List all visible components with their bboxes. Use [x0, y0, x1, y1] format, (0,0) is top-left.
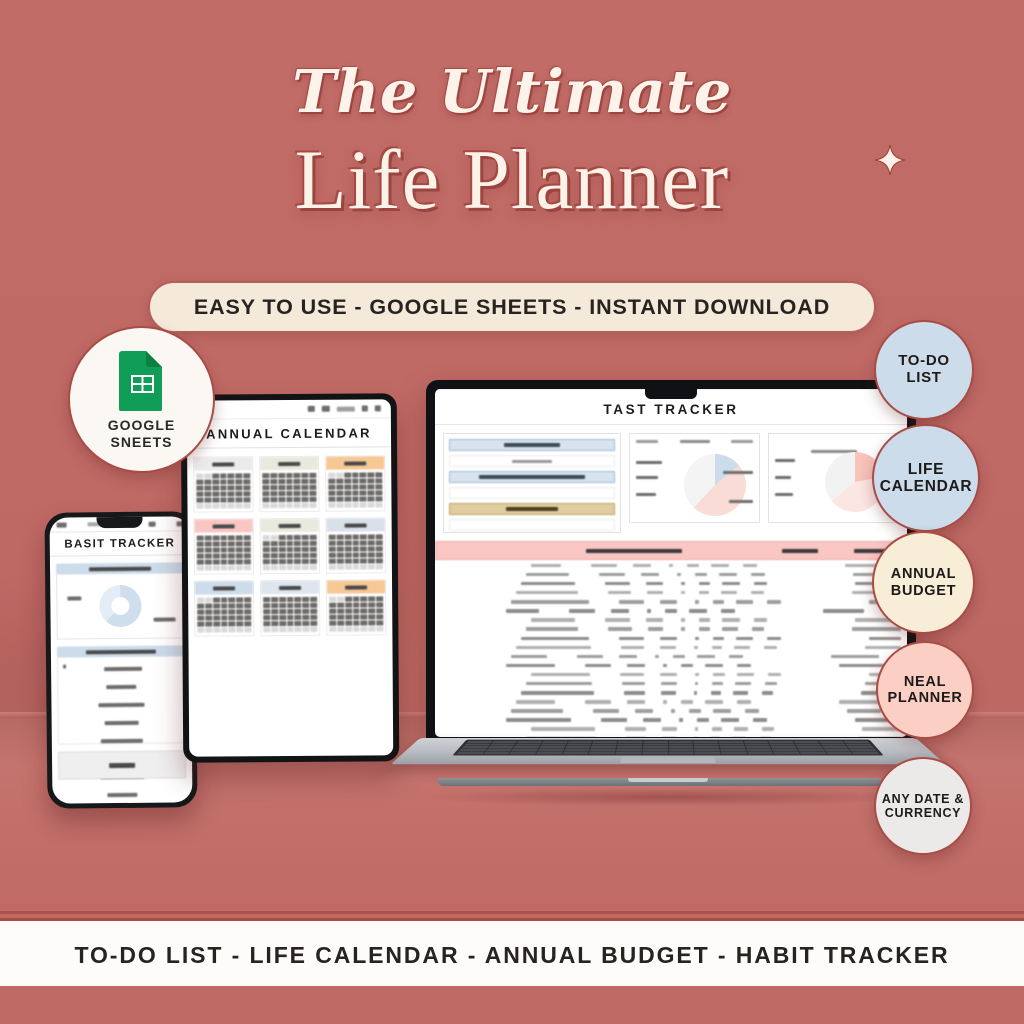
calendar-day-cell[interactable] — [196, 474, 203, 479]
calendar-day-cell[interactable] — [344, 473, 351, 478]
calendar-day-cell[interactable] — [310, 547, 317, 552]
calendar-day-cell[interactable] — [329, 621, 336, 626]
calendar-day-cell[interactable] — [310, 541, 317, 546]
calendar-day-cell[interactable] — [236, 553, 243, 558]
calendar-day-cell[interactable] — [236, 541, 243, 546]
calendar-day-cell[interactable] — [310, 597, 317, 602]
badge-neal-planner[interactable]: NEAL PLANNER — [876, 641, 974, 739]
calendar-day-cell[interactable] — [352, 503, 359, 508]
calendar-day-cell[interactable] — [228, 473, 235, 478]
calendar-day-cell[interactable] — [286, 473, 293, 478]
calendar-day-cell[interactable] — [212, 541, 219, 546]
calendar-day-cell[interactable] — [336, 485, 343, 490]
calendar-day-cell[interactable] — [228, 559, 235, 564]
calendar-day-cell[interactable] — [344, 541, 351, 546]
calendar-day-cell[interactable] — [310, 621, 317, 626]
calendar-day-cell[interactable] — [204, 480, 211, 485]
table-row[interactable] — [441, 653, 901, 660]
share-icon[interactable] — [337, 406, 355, 411]
calendar-day-cell[interactable] — [236, 559, 243, 564]
calendar-day-cell[interactable] — [294, 541, 301, 546]
calendar-day-cell[interactable] — [345, 553, 352, 558]
calendar-day-cell[interactable] — [302, 485, 309, 490]
calendar-day-cell[interactable] — [360, 472, 367, 477]
calendar-day-cell[interactable] — [263, 597, 270, 602]
calendar-day-cell[interactable] — [212, 491, 219, 496]
calendar-day-cell[interactable] — [303, 627, 310, 632]
calendar-day-cell[interactable] — [337, 559, 344, 564]
calendar-day-cell[interactable] — [352, 559, 359, 564]
table-row[interactable] — [441, 735, 901, 737]
calendar-day-cell[interactable] — [220, 497, 227, 502]
calendar-day-cell[interactable] — [220, 485, 227, 490]
calendar-day-cell[interactable] — [360, 490, 367, 495]
calendar-day-cell[interactable] — [212, 485, 219, 490]
calendar-day-cell[interactable] — [286, 491, 293, 496]
calendar-day-cell[interactable] — [310, 503, 317, 508]
calendar-day-cell[interactable] — [236, 535, 243, 540]
calendar-day-cell[interactable] — [279, 615, 286, 620]
table-row[interactable] — [441, 626, 901, 633]
calendar-day-cell[interactable] — [236, 473, 243, 478]
calendar-day-cell[interactable] — [205, 560, 212, 565]
calendar-day-cell[interactable] — [376, 540, 383, 545]
calendar-day-cell[interactable] — [220, 479, 227, 484]
calendar-day-cell[interactable] — [310, 603, 317, 608]
calendar-day-cell[interactable] — [345, 609, 352, 614]
calendar-day-cell[interactable] — [278, 547, 285, 552]
calendar-day-cell[interactable] — [213, 553, 220, 558]
calendar-day-cell[interactable] — [302, 479, 309, 484]
calendar-day-cell[interactable] — [352, 485, 359, 490]
calendar-day-cell[interactable] — [352, 541, 359, 546]
calendar-day-cell[interactable] — [337, 565, 344, 570]
calendar-day-cell[interactable] — [310, 609, 317, 614]
calendar-day-cell[interactable] — [271, 535, 278, 540]
calendar-day-cell[interactable] — [196, 498, 203, 503]
calendar-day-cell[interactable] — [205, 598, 212, 603]
calendar-day-cell[interactable] — [287, 621, 294, 626]
calendar-day-cell[interactable] — [244, 565, 251, 570]
calendar-day-cell[interactable] — [278, 541, 285, 546]
calendar-day-cell[interactable] — [236, 603, 243, 608]
calendar-day-cell[interactable] — [345, 565, 352, 570]
calendar-day-cell[interactable] — [263, 621, 270, 626]
calendar-day-cell[interactable] — [294, 553, 301, 558]
calendar-day-cell[interactable] — [263, 609, 270, 614]
calendar-day-cell[interactable] — [271, 559, 278, 564]
calendar-day-cell[interactable] — [329, 615, 336, 620]
calendar-day-cell[interactable] — [271, 547, 278, 552]
calendar-day-cell[interactable] — [212, 473, 219, 478]
calendar-day-cell[interactable] — [368, 490, 375, 495]
calendar-day-cell[interactable] — [229, 609, 236, 614]
calendar-day-cell[interactable] — [279, 609, 286, 614]
calendar-day-cell[interactable] — [236, 565, 243, 570]
calendar-day-cell[interactable] — [263, 553, 270, 558]
calendar-day-cell[interactable] — [328, 503, 335, 508]
calendar-day-cell[interactable] — [244, 559, 251, 564]
calendar-day-cell[interactable] — [375, 478, 382, 483]
calendar-day-cell[interactable] — [212, 503, 219, 508]
calendar-day-cell[interactable] — [352, 473, 359, 478]
calendar-day-cell[interactable] — [295, 603, 302, 608]
calendar-day-cell[interactable] — [244, 621, 251, 626]
calendar-day-cell[interactable] — [197, 560, 204, 565]
keyboard-key[interactable] — [695, 752, 721, 754]
calendar-day-cell[interactable] — [310, 627, 317, 632]
calendar-day-cell[interactable] — [244, 615, 251, 620]
calendar-day-cell[interactable] — [279, 553, 286, 558]
calendar-day-cell[interactable] — [302, 491, 309, 496]
phone-footer-button[interactable] — [58, 750, 186, 779]
calendar-day-cell[interactable] — [228, 503, 235, 508]
calendar-day-cell[interactable] — [213, 615, 220, 620]
calendar-day-cell[interactable] — [197, 542, 204, 547]
calendar-day-cell[interactable] — [360, 478, 367, 483]
calendar-day-cell[interactable] — [205, 548, 212, 553]
keyboard-key[interactable] — [616, 752, 642, 754]
calendar-day-cell[interactable] — [337, 609, 344, 614]
calendar-day-cell[interactable] — [360, 502, 367, 507]
keyboard-key[interactable] — [850, 749, 877, 751]
calendar-day-cell[interactable] — [368, 540, 375, 545]
calendar-day-cell[interactable] — [197, 604, 204, 609]
calendar-day-cell[interactable] — [376, 496, 383, 501]
calendar-day-cell[interactable] — [221, 621, 228, 626]
calendar-day-cell[interactable] — [328, 479, 335, 484]
calendar-day-cell[interactable] — [352, 491, 359, 496]
calendar-day-cell[interactable] — [212, 479, 219, 484]
calendar-day-cell[interactable] — [294, 503, 301, 508]
calendar-day-cell[interactable] — [244, 597, 251, 602]
table-row[interactable] — [441, 708, 901, 715]
calendar-day-cell[interactable] — [353, 627, 360, 632]
calendar-day-cell[interactable] — [353, 609, 360, 614]
calendar-day-cell[interactable] — [368, 546, 375, 551]
calendar-day-cell[interactable] — [302, 609, 309, 614]
calendar-day-cell[interactable] — [286, 535, 293, 540]
calendar-day-cell[interactable] — [337, 547, 344, 552]
calendar-day-cell[interactable] — [287, 615, 294, 620]
calendar-day-cell[interactable] — [376, 558, 383, 563]
calendar-day-cell[interactable] — [271, 553, 278, 558]
keyboard-key[interactable] — [852, 752, 879, 754]
keyboard-key[interactable] — [844, 741, 870, 743]
calendar-day-cell[interactable] — [244, 603, 251, 608]
calendar-day-cell[interactable] — [196, 504, 203, 509]
calendar-day-cell[interactable] — [271, 615, 278, 620]
calendar-day-cell[interactable] — [294, 565, 301, 570]
calendar-day-cell[interactable] — [344, 479, 351, 484]
calendar-day-cell[interactable] — [236, 491, 243, 496]
window-icon[interactable] — [375, 405, 381, 411]
calendar-day-cell[interactable] — [360, 552, 367, 557]
calendar-day-cell[interactable] — [220, 473, 227, 478]
calendar-day-cell[interactable] — [263, 559, 270, 564]
calendar-day-cell[interactable] — [310, 565, 317, 570]
calendar-day-cell[interactable] — [197, 628, 204, 633]
calendar-day-cell[interactable] — [286, 559, 293, 564]
calendar-day-cell[interactable] — [196, 492, 203, 497]
calendar-day-cell[interactable] — [352, 479, 359, 484]
keyboard-key[interactable] — [846, 743, 872, 745]
calendar-day-cell[interactable] — [294, 559, 301, 564]
calendar-day-cell[interactable] — [302, 603, 309, 608]
calendar-day-cell[interactable] — [360, 564, 367, 569]
calendar-day-cell[interactable] — [270, 491, 277, 496]
calendar-day-cell[interactable] — [376, 608, 383, 613]
calendar-day-cell[interactable] — [337, 615, 344, 620]
keyboard-key[interactable] — [589, 752, 615, 754]
keyboard-key[interactable] — [457, 752, 484, 754]
calendar-day-cell[interactable] — [361, 614, 368, 619]
calendar-day-cell[interactable] — [337, 597, 344, 602]
calendar-day-cell[interactable] — [229, 621, 236, 626]
calendar-day-cell[interactable] — [294, 479, 301, 484]
calendar-day-cell[interactable] — [337, 627, 344, 632]
calendar-day-cell[interactable] — [345, 615, 352, 620]
calendar-day-cell[interactable] — [213, 559, 220, 564]
keyboard-key[interactable] — [800, 752, 827, 754]
calendar-day-cell[interactable] — [229, 597, 236, 602]
calendar-day-cell[interactable] — [244, 541, 251, 546]
calendar-day-cell[interactable] — [243, 485, 250, 490]
calendar-day-cell[interactable] — [302, 497, 309, 502]
calendar-day-cell[interactable] — [205, 628, 212, 633]
calendar-day-cell[interactable] — [376, 502, 383, 507]
calendar-day-cell[interactable] — [295, 627, 302, 632]
calendar-day-cell[interactable] — [376, 564, 383, 569]
calendar-day-cell[interactable] — [310, 553, 317, 558]
table-row[interactable] — [441, 671, 901, 678]
calendar-day-cell[interactable] — [302, 597, 309, 602]
calendar-day-cell[interactable] — [197, 566, 204, 571]
calendar-day-cell[interactable] — [197, 548, 204, 553]
calendar-day-cell[interactable] — [220, 553, 227, 558]
calendar-day-cell[interactable] — [228, 497, 235, 502]
keyboard-key[interactable] — [848, 746, 875, 748]
calendar-day-cell[interactable] — [344, 547, 351, 552]
calendar-day-cell[interactable] — [375, 472, 382, 477]
calendar-day-cell[interactable] — [368, 552, 375, 557]
calendar-day-cell[interactable] — [328, 473, 335, 478]
calendar-day-cell[interactable] — [197, 610, 204, 615]
keyboard-key[interactable] — [773, 752, 799, 754]
calendar-day-cell[interactable] — [244, 609, 251, 614]
calendar-day-cell[interactable] — [213, 597, 220, 602]
calendar-day-cell[interactable] — [369, 626, 376, 631]
keyboard-key[interactable] — [826, 752, 853, 754]
calendar-day-cell[interactable] — [228, 535, 235, 540]
calendar-day-cell[interactable] — [329, 559, 336, 564]
calendar-day-cell[interactable] — [286, 497, 293, 502]
calendar-day-cell[interactable] — [353, 603, 360, 608]
calendar-day-cell[interactable] — [294, 547, 301, 552]
calendar-day-cell[interactable] — [337, 553, 344, 558]
keyboard-key[interactable] — [563, 752, 589, 754]
calendar-day-cell[interactable] — [294, 473, 301, 478]
calendar-day-cell[interactable] — [220, 547, 227, 552]
calendar-day-cell[interactable] — [204, 474, 211, 479]
calendar-day-cell[interactable] — [279, 597, 286, 602]
calendar-day-cell[interactable] — [302, 547, 309, 552]
calendar-day-cell[interactable] — [337, 541, 344, 546]
calendar-day-cell[interactable] — [329, 553, 336, 558]
table-row[interactable] — [441, 680, 901, 687]
calendar-day-cell[interactable] — [196, 486, 203, 491]
calendar-day-cell[interactable] — [221, 609, 228, 614]
calendar-day-cell[interactable] — [368, 534, 375, 539]
calendar-day-cell[interactable] — [352, 565, 359, 570]
calendar-day-cell[interactable] — [309, 479, 316, 484]
calendar-day-cell[interactable] — [328, 497, 335, 502]
calendar-day-cell[interactable] — [376, 626, 383, 631]
calendar-day-cell[interactable] — [204, 498, 211, 503]
calendar-day-cell[interactable] — [329, 609, 336, 614]
calendar-day-cell[interactable] — [237, 627, 244, 632]
calendar-day-cell[interactable] — [271, 609, 278, 614]
calendar-day-cell[interactable] — [286, 503, 293, 508]
calendar-day-cell[interactable] — [205, 542, 212, 547]
calendar-day-cell[interactable] — [302, 473, 309, 478]
calendar-day-cell[interactable] — [376, 614, 383, 619]
calendar-day-cell[interactable] — [328, 491, 335, 496]
calendar-day-cell[interactable] — [336, 497, 343, 502]
calendar-day-cell[interactable] — [376, 602, 383, 607]
calendar-day-cell[interactable] — [353, 621, 360, 626]
calendar-day-cell[interactable] — [197, 622, 204, 627]
calendar-day-cell[interactable] — [271, 627, 278, 632]
calendar-day-cell[interactable] — [263, 541, 270, 546]
calendar-day-cell[interactable] — [213, 565, 220, 570]
calendar-day-cell[interactable] — [368, 602, 375, 607]
calendar-day-cell[interactable] — [310, 535, 317, 540]
calendar-day-cell[interactable] — [345, 627, 352, 632]
calendar-day-cell[interactable] — [244, 553, 251, 558]
calendar-day-cell[interactable] — [286, 565, 293, 570]
badge-annual-budget[interactable]: ANNUAL BUDGET — [872, 531, 975, 634]
calendar-day-cell[interactable] — [221, 597, 228, 602]
calendar-day-cell[interactable] — [345, 603, 352, 608]
calendar-day-cell[interactable] — [228, 485, 235, 490]
calendar-day-cell[interactable] — [302, 553, 309, 558]
calendar-day-cell[interactable] — [287, 603, 294, 608]
calendar-day-cell[interactable] — [310, 497, 317, 502]
calendar-day-cell[interactable] — [368, 496, 375, 501]
calendar-day-cell[interactable] — [197, 536, 204, 541]
calendar-day-cell[interactable] — [197, 616, 204, 621]
calendar-day-cell[interactable] — [294, 485, 301, 490]
calendar-day-cell[interactable] — [295, 615, 302, 620]
calendar-day-cell[interactable] — [278, 503, 285, 508]
cloud-icon[interactable] — [308, 406, 315, 412]
badge-any-date-currency[interactable]: ANY DATE & CURRENCY — [874, 757, 972, 855]
calendar-day-cell[interactable] — [228, 553, 235, 558]
calendar-day-cell[interactable] — [352, 553, 359, 558]
calendar-day-cell[interactable] — [376, 596, 383, 601]
calendar-day-cell[interactable] — [220, 559, 227, 564]
keyboard-key[interactable] — [510, 752, 537, 754]
calendar-day-cell[interactable] — [328, 485, 335, 490]
calendar-day-cell[interactable] — [302, 535, 309, 540]
calendar-day-cell[interactable] — [337, 621, 344, 626]
calendar-day-cell[interactable] — [337, 603, 344, 608]
calendar-day-cell[interactable] — [310, 615, 317, 620]
calendar-day-cell[interactable] — [329, 597, 336, 602]
calendar-day-cell[interactable] — [212, 497, 219, 502]
table-row[interactable] — [441, 662, 901, 669]
calendar-day-cell[interactable] — [329, 547, 336, 552]
calendar-day-cell[interactable] — [295, 621, 302, 626]
calendar-day-cell[interactable] — [302, 559, 309, 564]
calendar-day-cell[interactable] — [352, 547, 359, 552]
calendar-day-cell[interactable] — [262, 479, 269, 484]
calendar-day-cell[interactable] — [369, 614, 376, 619]
calendar-day-cell[interactable] — [244, 497, 251, 502]
calendar-day-cell[interactable] — [376, 546, 383, 551]
table-row[interactable] — [441, 644, 901, 651]
calendar-day-cell[interactable] — [263, 615, 270, 620]
calendar-day-cell[interactable] — [302, 565, 309, 570]
calendar-day-cell[interactable] — [220, 535, 227, 540]
calendar-day-cell[interactable] — [360, 540, 367, 545]
calendar-day-cell[interactable] — [271, 565, 278, 570]
table-row[interactable] — [441, 726, 901, 733]
calendar-day-cell[interactable] — [205, 616, 212, 621]
calendar-day-cell[interactable] — [309, 485, 316, 490]
calendar-day-cell[interactable] — [278, 479, 285, 484]
calendar-day-cell[interactable] — [244, 535, 251, 540]
calendar-day-cell[interactable] — [352, 497, 359, 502]
keyboard-key[interactable] — [536, 752, 562, 754]
calendar-day-cell[interactable] — [263, 627, 270, 632]
calendar-day-cell[interactable] — [228, 491, 235, 496]
calendar-day-cell[interactable] — [302, 541, 309, 546]
calendar-day-cell[interactable] — [345, 621, 352, 626]
calendar-day-cell[interactable] — [228, 541, 235, 546]
calendar-day-cell[interactable] — [270, 479, 277, 484]
calendar-day-cell[interactable] — [279, 565, 286, 570]
calendar-day-cell[interactable] — [375, 484, 382, 489]
calendar-day-cell[interactable] — [278, 473, 285, 478]
calendar-day-cell[interactable] — [368, 502, 375, 507]
keyboard-key[interactable] — [721, 752, 747, 754]
calendar-day-cell[interactable] — [236, 597, 243, 602]
calendar-day-cell[interactable] — [287, 597, 294, 602]
calendar-day-cell[interactable] — [271, 597, 278, 602]
calendar-day-cell[interactable] — [205, 566, 212, 571]
calendar-day-cell[interactable] — [270, 497, 277, 502]
calendar-day-cell[interactable] — [262, 503, 269, 508]
table-row[interactable] — [441, 617, 901, 624]
calendar-day-cell[interactable] — [344, 497, 351, 502]
calendar-day-cell[interactable] — [205, 554, 212, 559]
calendar-day-cell[interactable] — [279, 621, 286, 626]
calendar-day-cell[interactable] — [286, 485, 293, 490]
calendar-day-cell[interactable] — [205, 536, 212, 541]
calendar-day-cell[interactable] — [221, 615, 228, 620]
calendar-day-cell[interactable] — [368, 596, 375, 601]
calendar-day-cell[interactable] — [278, 485, 285, 490]
keyboard-key[interactable] — [483, 752, 510, 754]
calendar-day-cell[interactable] — [204, 504, 211, 509]
grid-icon[interactable] — [322, 406, 330, 412]
calendar-day-cell[interactable] — [220, 541, 227, 546]
calendar-day-cell[interactable] — [344, 535, 351, 540]
calendar-day-cell[interactable] — [310, 559, 317, 564]
table-row[interactable] — [441, 635, 901, 642]
